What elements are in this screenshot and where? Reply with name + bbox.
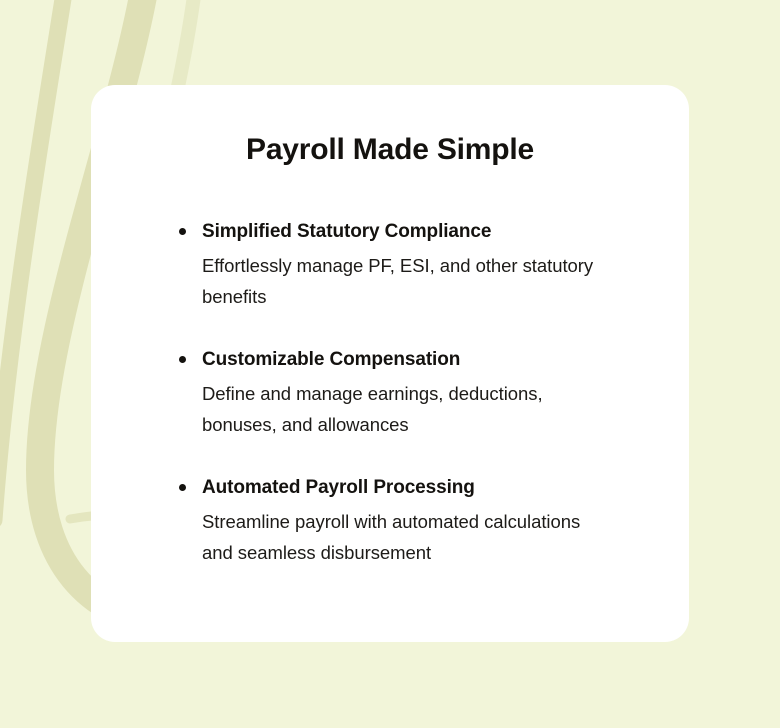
bullet-dot-icon <box>179 228 186 235</box>
feature-description: Streamline payroll with automated calcul… <box>202 506 612 568</box>
bullet-dot-icon <box>179 484 186 491</box>
feature-title: Automated Payroll Processing <box>202 474 649 501</box>
page-title: Payroll Made Simple <box>91 133 689 167</box>
feature-title: Customizable Compensation <box>202 346 649 373</box>
list-item: Customizable Compensation Define and man… <box>179 346 649 440</box>
payroll-feature-card: Payroll Made Simple Simplified Statutory… <box>91 85 689 642</box>
list-item: Automated Payroll Processing Streamline … <box>179 474 649 568</box>
feature-description: Define and manage earnings, deductions, … <box>202 378 612 440</box>
feature-list: Simplified Statutory Compliance Effortle… <box>179 218 649 568</box>
list-item: Simplified Statutory Compliance Effortle… <box>179 218 649 312</box>
decor-curve-outer <box>0 0 66 520</box>
feature-title: Simplified Statutory Compliance <box>202 218 649 245</box>
feature-description: Effortlessly manage PF, ESI, and other s… <box>202 250 612 312</box>
bullet-dot-icon <box>179 356 186 363</box>
